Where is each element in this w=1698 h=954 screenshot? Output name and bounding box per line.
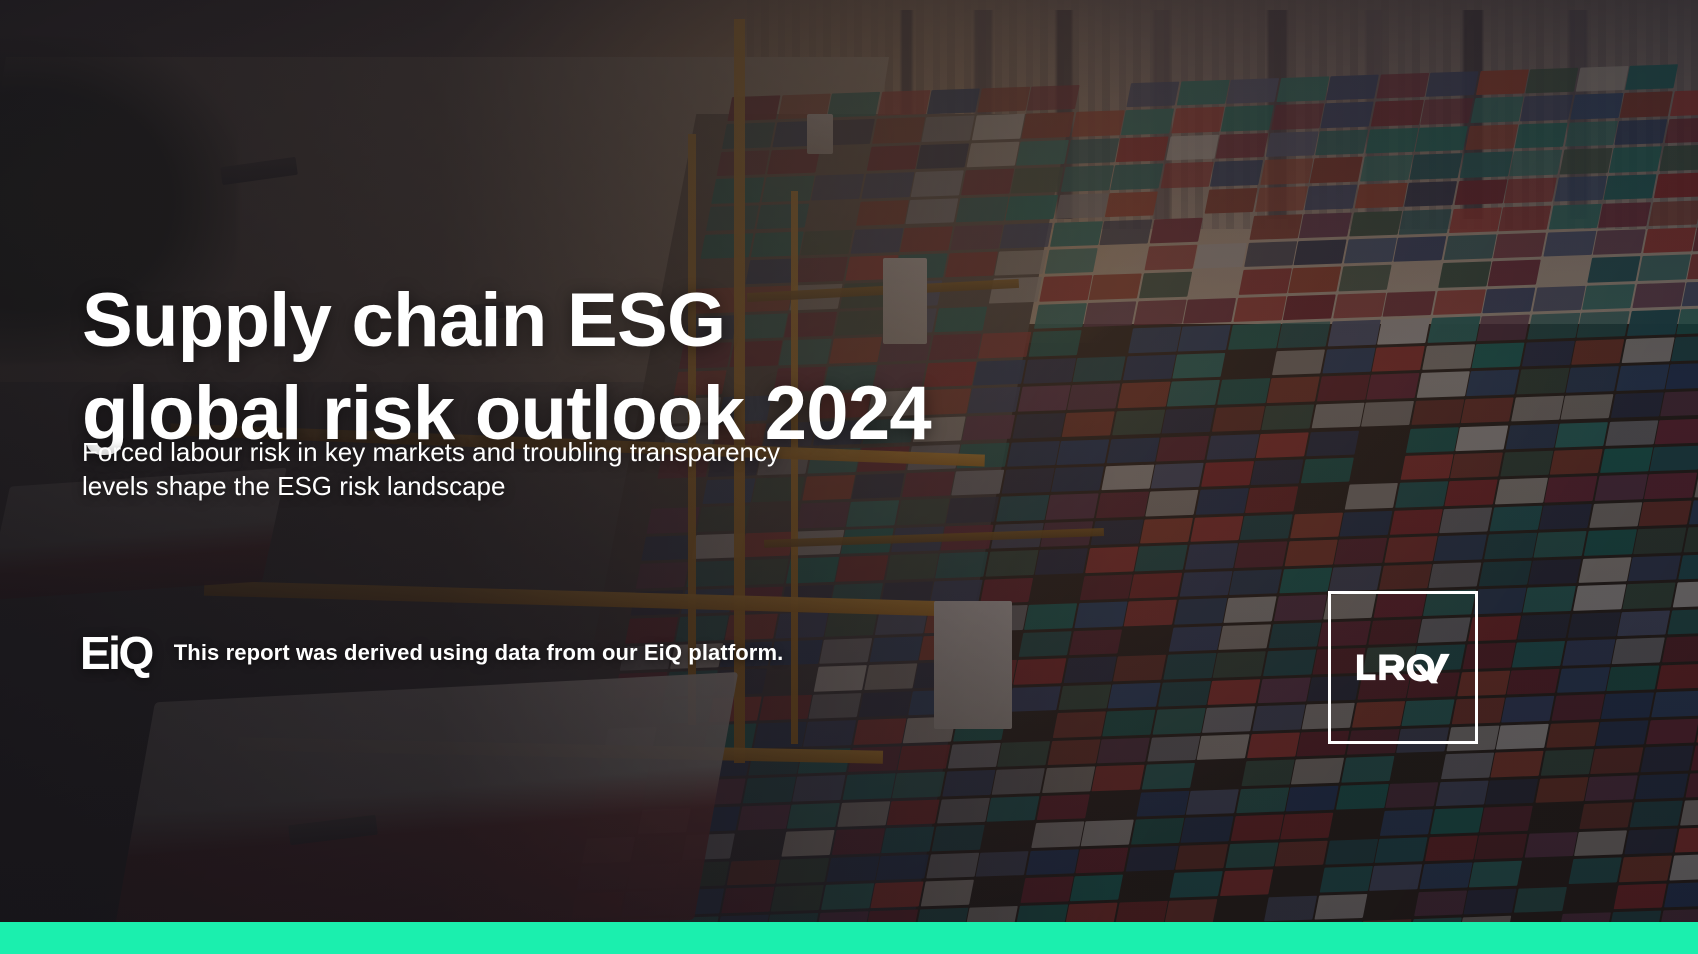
accent-bar: [0, 922, 1698, 954]
platform-attribution-text: This report was derived using data from …: [174, 640, 784, 666]
report-cover: Supply chain ESG global risk outlook 202…: [0, 0, 1698, 954]
page-subtitle-line-2: levels shape the ESG risk landscape: [82, 470, 842, 504]
page-subtitle-line-1: Forced labour risk in key markets and tr…: [82, 436, 842, 470]
lrqa-logo: [1328, 591, 1478, 744]
eiq-logo: EiQ: [80, 630, 152, 676]
page-subtitle: Forced labour risk in key markets and tr…: [82, 436, 842, 504]
lrqa-wordmark-icon: [1355, 651, 1451, 685]
page-title: Supply chain ESG global risk outlook 202…: [82, 275, 1082, 460]
platform-attribution: EiQ This report was derived using data f…: [80, 630, 783, 676]
cover-content: Supply chain ESG global risk outlook 202…: [0, 0, 1698, 954]
page-title-line-1: Supply chain ESG: [82, 275, 1082, 368]
